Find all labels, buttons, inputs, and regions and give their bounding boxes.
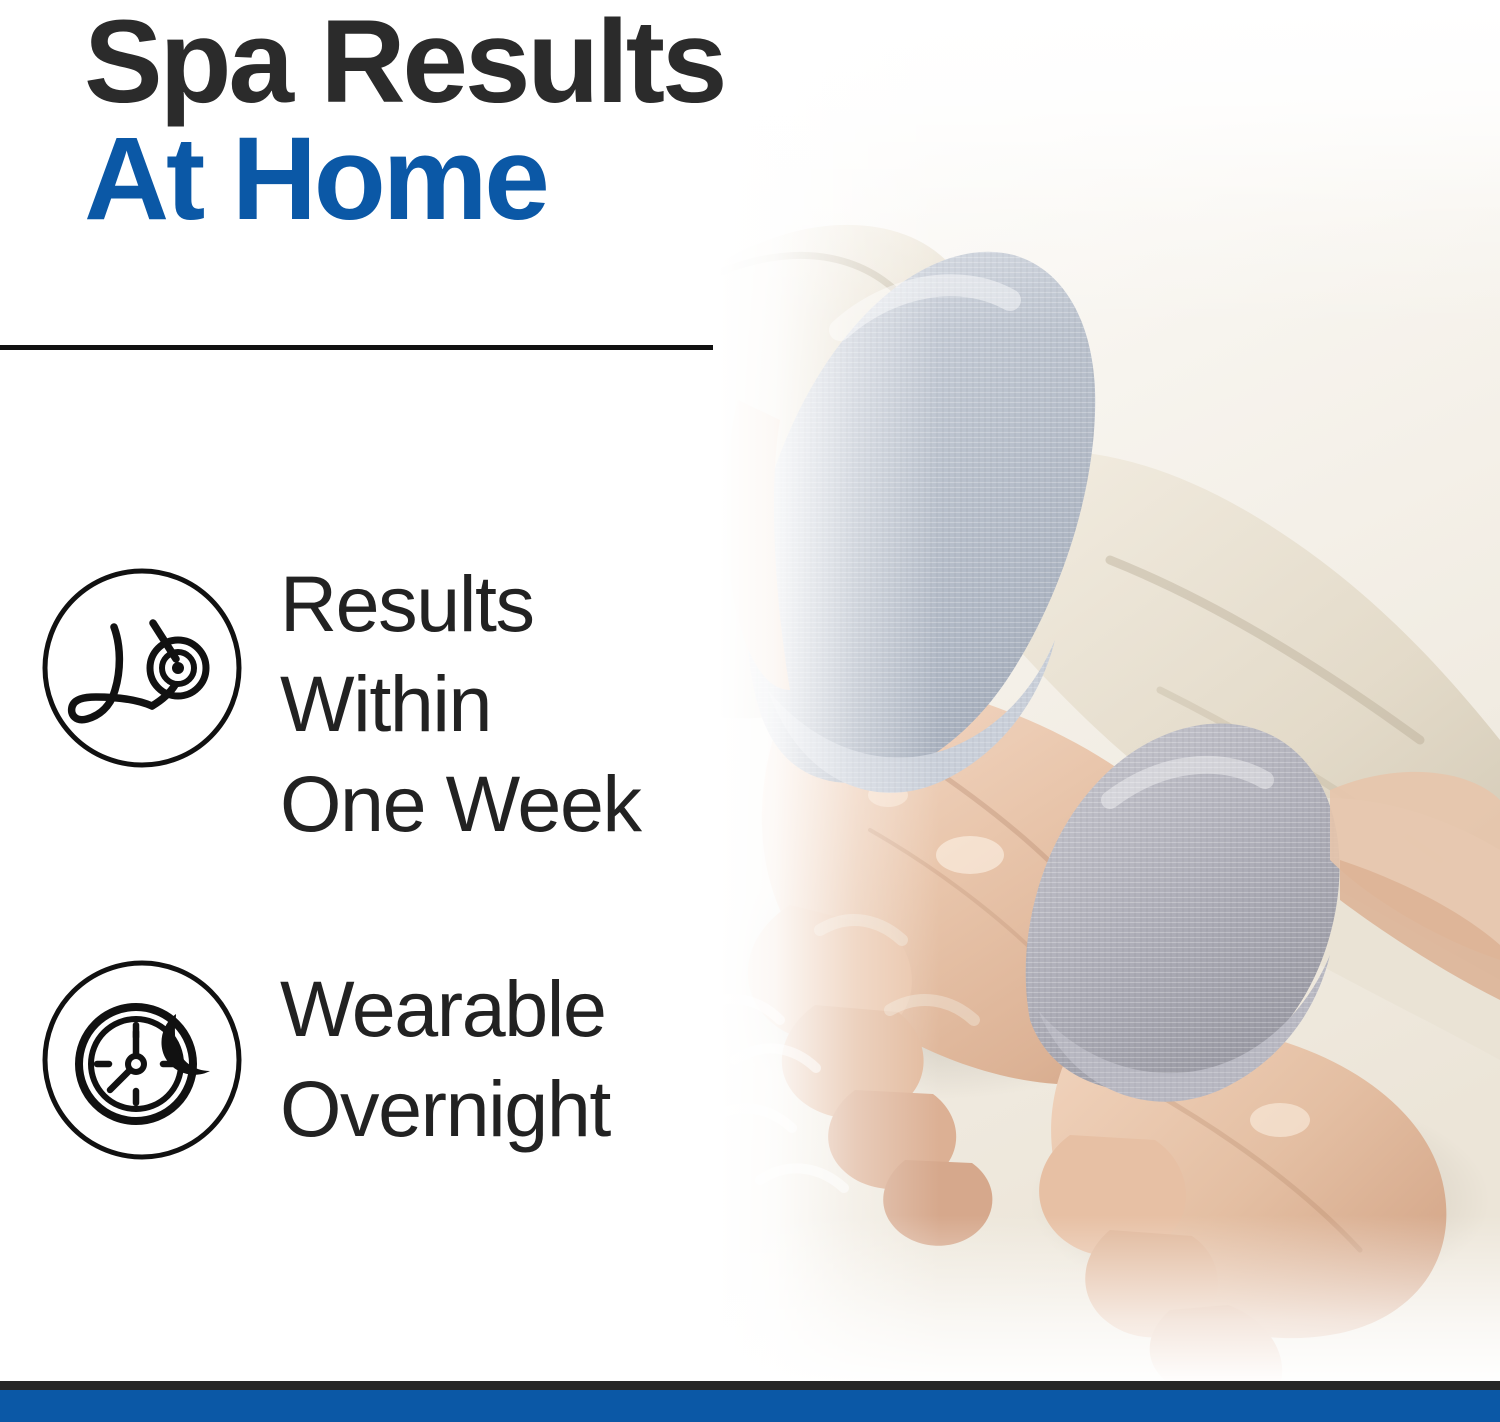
feature-1-line-2: Within — [280, 654, 641, 754]
feature-2-line-1: Wearable — [280, 959, 610, 1059]
headline-line-1: Spa Results — [84, 4, 724, 121]
headline: Spa Results At Home — [84, 4, 724, 238]
product-lifestyle-photo — [640, 0, 1500, 1385]
clock-moon-icon — [40, 958, 244, 1162]
footer-dark-stripe — [0, 1381, 1500, 1390]
feature-1-line-3: One Week — [280, 754, 641, 854]
foot-heel-target-icon — [40, 566, 244, 770]
feature-2-line-2: Overnight — [280, 1059, 610, 1159]
feature-item-wearable-overnight: Wearable Overnight — [40, 958, 610, 1162]
footer-blue-bar — [0, 1390, 1500, 1422]
feature-1-text: Results Within One Week — [280, 554, 641, 854]
headline-divider-rule — [0, 345, 713, 350]
headline-line-2: At Home — [84, 121, 724, 238]
promo-image-canvas: Spa Results At Home Results Within One W… — [0, 0, 1500, 1422]
feature-2-text: Wearable Overnight — [280, 959, 610, 1159]
feature-1-line-1: Results — [280, 554, 641, 654]
feature-item-results-within-one-week: Results Within One Week — [40, 566, 641, 854]
